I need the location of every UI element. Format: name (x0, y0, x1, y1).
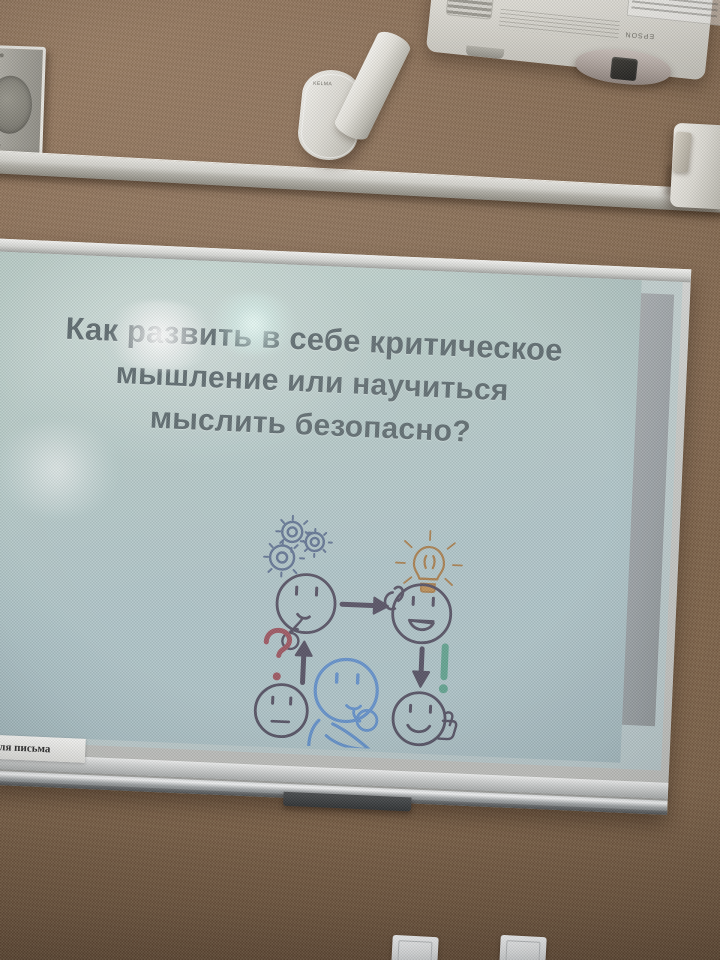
mount-plate-label: KELMA (313, 81, 332, 88)
projector-brand-label: EPSON (624, 30, 654, 39)
projector-lens-icon (610, 57, 638, 82)
wall-speaker (0, 45, 46, 163)
board-note-text: ка не для письма (0, 739, 51, 755)
light-switch[interactable] (391, 935, 439, 960)
board-warning-note: ка не для письма (0, 733, 86, 762)
projector-vent-icon (446, 0, 497, 20)
whiteboard-surface: Как развить в себе критическое мышление … (0, 251, 683, 770)
projector-fine-print (499, 9, 620, 41)
projected-slide: Как развить в себе критическое мышление … (0, 251, 641, 762)
classroom-photo-scene: KELMA EPSON Как развить в себе критическ… (0, 0, 720, 960)
projection-vignette (0, 251, 641, 762)
whiteboard: Как развить в себе критическое мышление … (0, 238, 691, 815)
power-outlet-face[interactable] (505, 940, 540, 960)
wall-lower-shadow (0, 790, 720, 960)
sticker-text-lines (631, 0, 719, 19)
light-switch-rocker[interactable] (397, 940, 432, 960)
power-outlet[interactable] (499, 935, 547, 960)
projector-sticker (627, 0, 720, 26)
